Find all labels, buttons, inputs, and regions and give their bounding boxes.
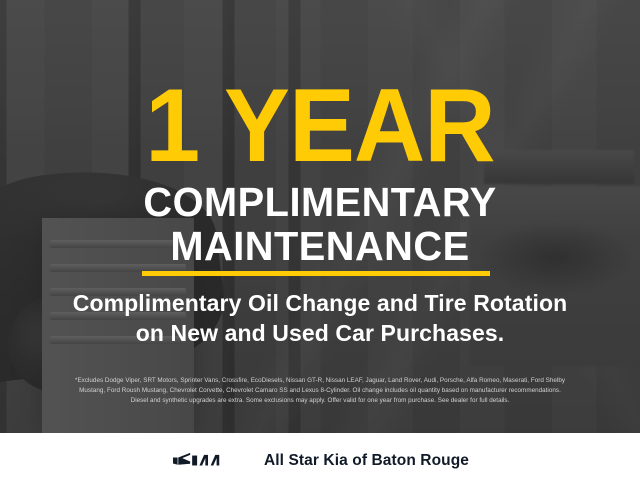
banner-content: 1 YEAR COMPLIMENTARY MAINTENANCE Complim… xyxy=(0,0,640,488)
dealer-name: All Star Kia of Baton Rouge xyxy=(264,452,469,470)
promotional-banner: 1 YEAR COMPLIMENTARY MAINTENANCE Complim… xyxy=(0,0,640,488)
banner-footer: All Star Kia of Baton Rouge xyxy=(0,433,640,488)
headline-maintenance: MAINTENANCE xyxy=(10,226,631,267)
disclaimer-line-1: *Excludes Dodge Viper, SRT Motors, Sprin… xyxy=(14,376,626,386)
headline-year: 1 YEAR xyxy=(16,74,624,178)
disclaimer-line-2: Mustang, Ford Roush Mustang, Chevrolet C… xyxy=(14,386,626,396)
subheadline-line-2: on New and Used Car Purchases. xyxy=(0,318,640,348)
headline-complimentary: COMPLIMENTARY xyxy=(10,182,631,223)
kia-logo xyxy=(171,450,247,471)
disclaimer-fine-print: *Excludes Dodge Viper, SRT Motors, Sprin… xyxy=(14,376,626,407)
subheadline: Complimentary Oil Change and Tire Rotati… xyxy=(0,288,640,349)
subheadline-line-1: Complimentary Oil Change and Tire Rotati… xyxy=(73,290,568,316)
disclaimer-line-3: Diesel and synthetic upgrades are extra.… xyxy=(14,396,626,406)
yellow-divider-rule xyxy=(142,271,490,276)
